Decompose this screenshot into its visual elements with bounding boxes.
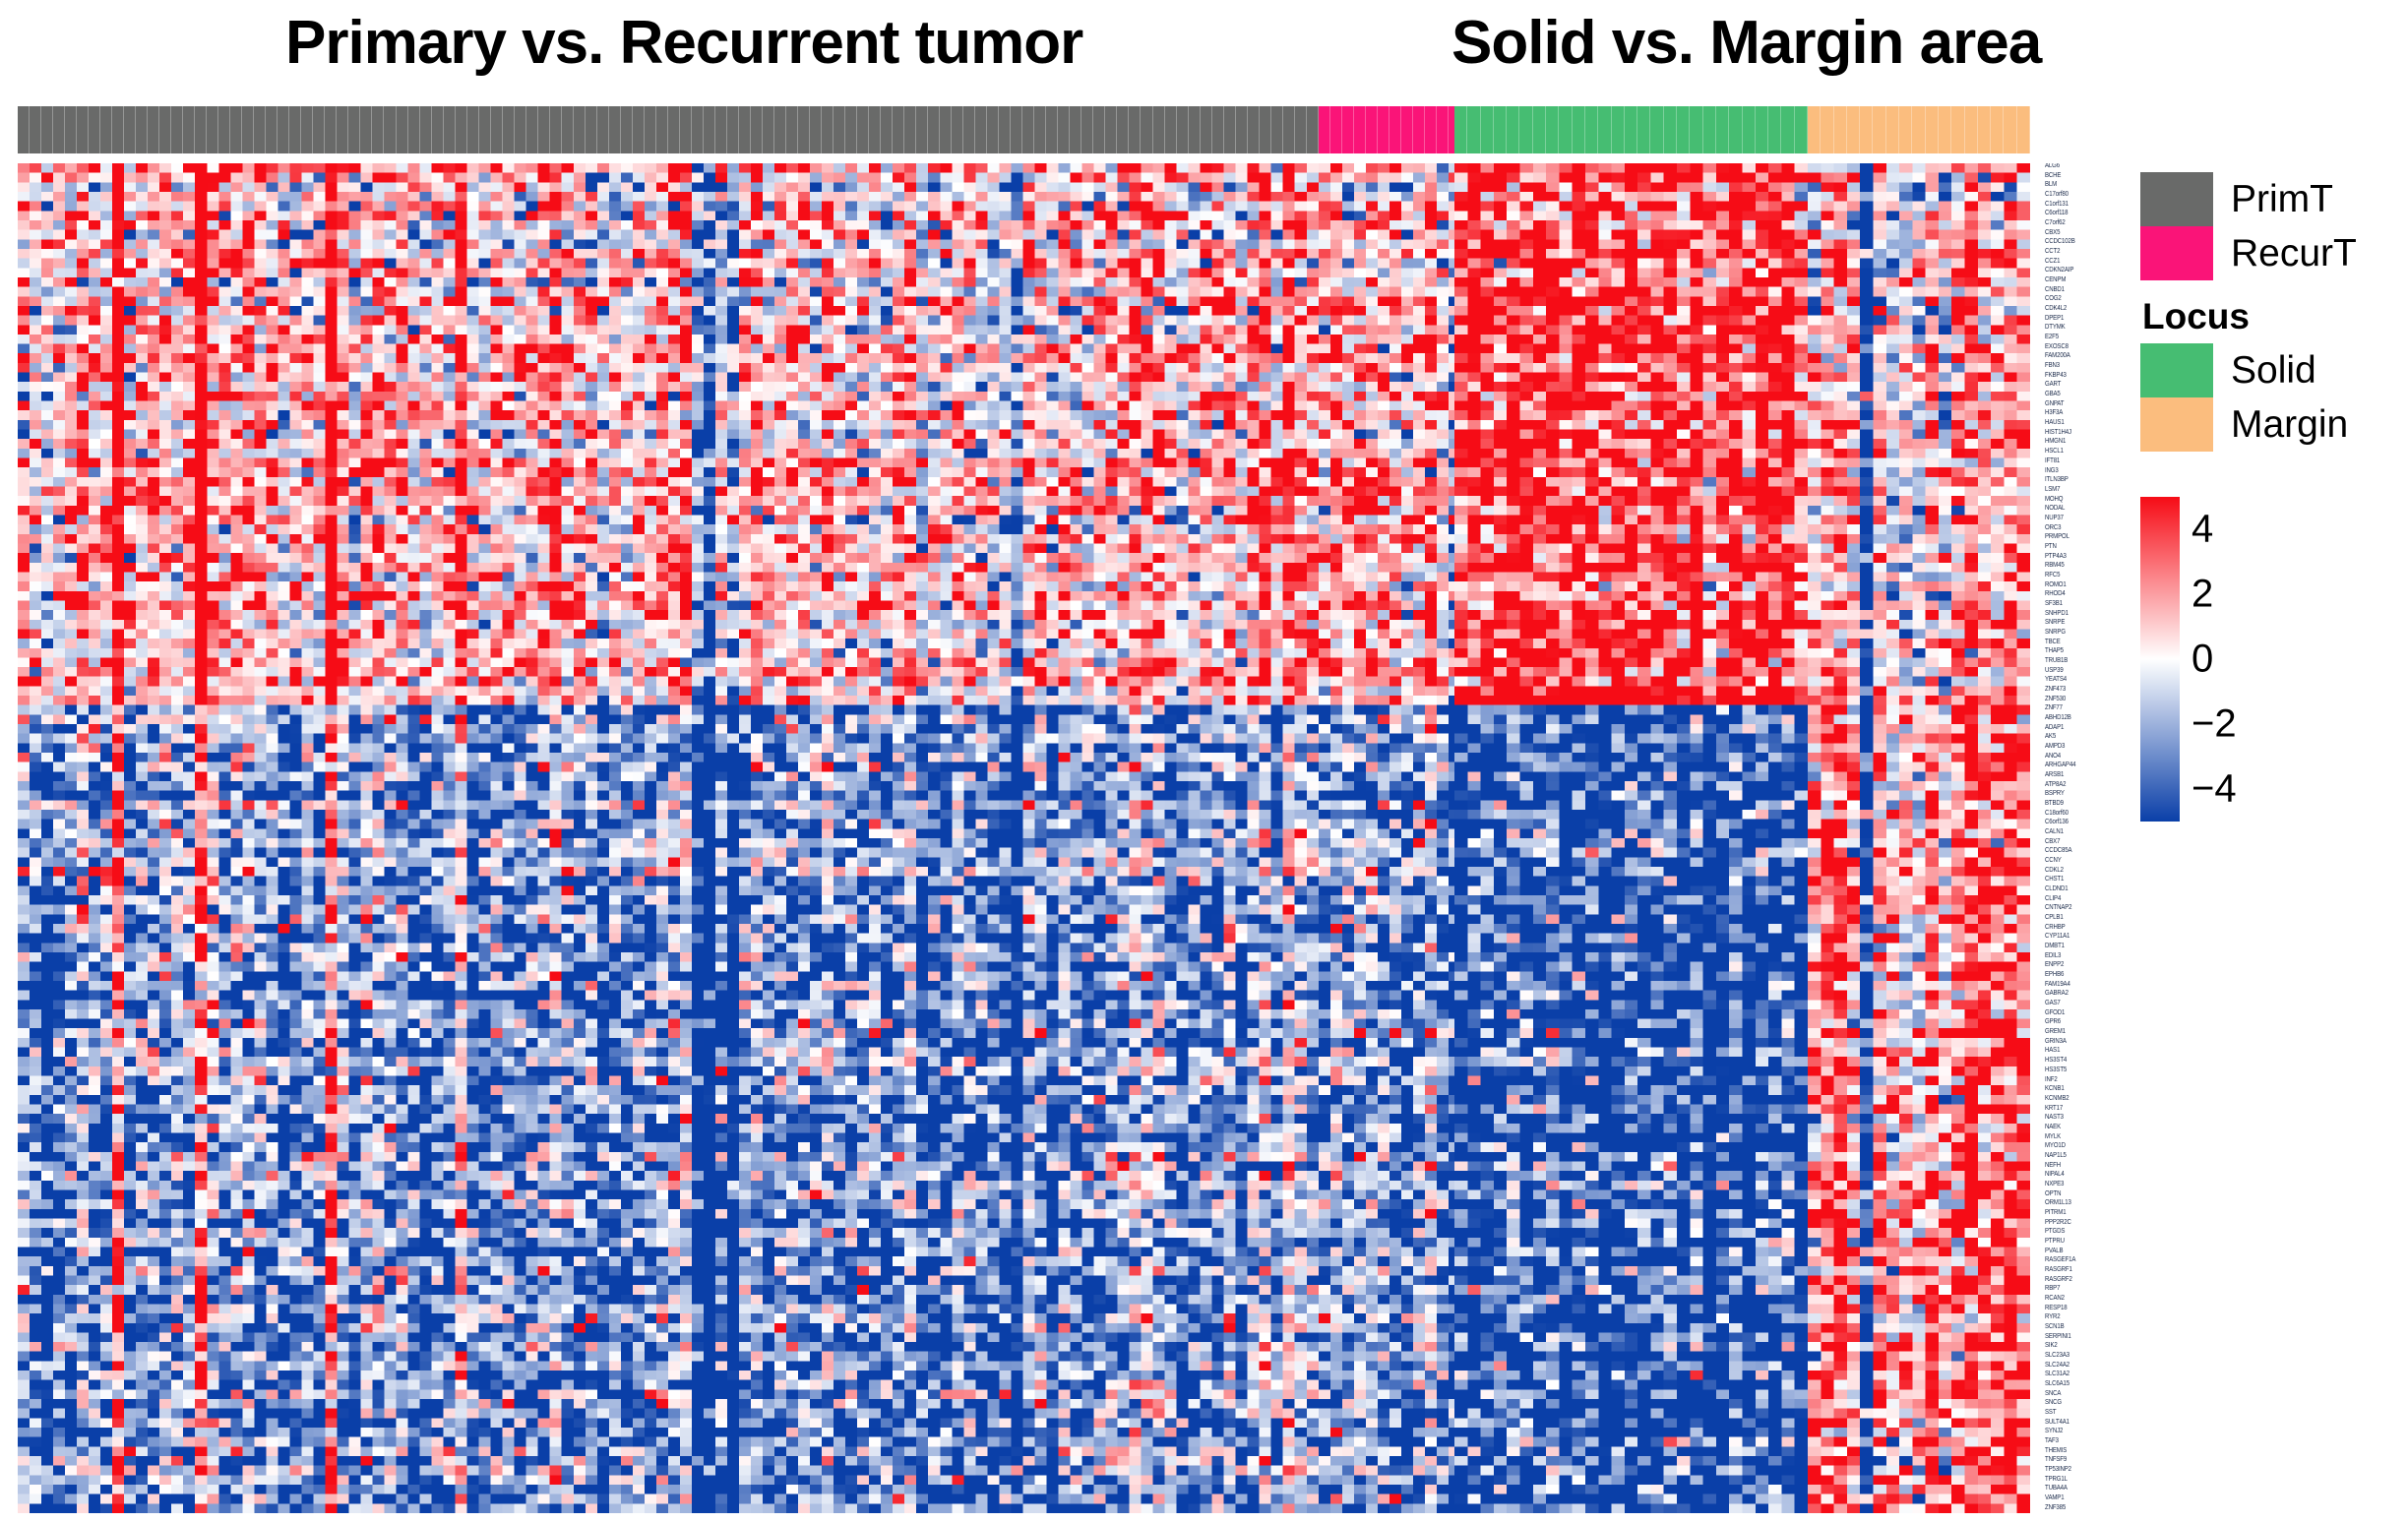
gene-label: NEFH <box>2045 1162 2122 1169</box>
gene-label: ALG6 <box>2045 163 2122 170</box>
annotation-segment-primt <box>18 106 1319 153</box>
gene-label: RASGRF1 <box>2045 1266 2122 1273</box>
gene-label: PVALB <box>2045 1248 2122 1254</box>
gene-label: HIST1H4J <box>2045 429 2122 436</box>
gene-label: DMBT1 <box>2045 944 2122 950</box>
annotation-cell <box>940 106 952 153</box>
gene-label: AMPD3 <box>2045 744 2122 751</box>
annotation-cell <box>1573 106 1585 153</box>
annotation-cell <box>1189 106 1201 153</box>
annotation-cell <box>786 106 798 153</box>
annotation-cell <box>609 106 621 153</box>
legend-item-margin[interactable]: Margin <box>2140 397 2408 452</box>
annotation-cell <box>727 106 739 153</box>
gene-label: C18orf60 <box>2045 810 2122 817</box>
gene-label: PRMPOL <box>2045 534 2122 541</box>
gene-label: GBA5 <box>2045 392 2122 398</box>
annotation-cell <box>1248 106 1260 153</box>
gene-label: SNCA <box>2045 1390 2122 1397</box>
gene-label: GRIN3A <box>2045 1038 2122 1045</box>
gene-label: SNRPE <box>2045 620 2122 627</box>
gene-label: CCDC102B <box>2045 239 2122 246</box>
colorbar-tick: 2 <box>2192 573 2213 617</box>
annotation-cell <box>278 106 289 153</box>
panel-title-left: Primary vs. Recurrent tumor <box>285 8 1082 78</box>
gene-label: TUBA4A <box>2045 1486 2122 1493</box>
annotation-cell <box>65 106 77 153</box>
gene-label: ORM1L13 <box>2045 1200 2122 1207</box>
gene-label: IFT81 <box>2045 457 2122 464</box>
legend-label: PrimT <box>2231 178 2333 221</box>
gene-label: FAM19A4 <box>2045 981 2122 988</box>
annotation-cell <box>1912 106 1925 153</box>
annotation-cell <box>1743 106 1756 153</box>
gene-label: NUP37 <box>2045 515 2122 521</box>
gene-label: CCT2 <box>2045 249 2122 256</box>
annotation-cell <box>1307 106 1319 153</box>
gene-label: PTP4A3 <box>2045 553 2122 560</box>
gene-label: SLC31A2 <box>2045 1371 2122 1378</box>
annotation-cell <box>266 106 278 153</box>
gene-label: FBN3 <box>2045 363 2122 370</box>
colorbar-tick: 0 <box>2192 638 2213 682</box>
annotation-cell <box>668 106 680 153</box>
gene-label: TPRG1L <box>2045 1476 2122 1483</box>
annotation-cell <box>2017 106 2030 153</box>
annotation-cell <box>325 106 337 153</box>
annotation-cell <box>1141 106 1152 153</box>
annotation-cell <box>1354 106 1366 153</box>
legend-colorbar: 420−2−4 <box>2140 497 2408 822</box>
gene-label: SULT4A1 <box>2045 1419 2122 1426</box>
annotation-cell <box>242 106 254 153</box>
gene-label: ROMO1 <box>2045 581 2122 588</box>
annotation-cell <box>810 106 822 153</box>
annotation-cell <box>1690 106 1702 153</box>
annotation-cell <box>1046 106 1058 153</box>
legend-item-solid[interactable]: Solid <box>2140 343 2408 397</box>
annotation-cell <box>1260 106 1271 153</box>
annotation-cell <box>254 106 266 153</box>
gene-label: HAS1 <box>2045 1048 2122 1055</box>
annotation-cell <box>1650 106 1663 153</box>
annotation-cell <box>751 106 763 153</box>
legend-item-recurt[interactable]: RecurT <box>2140 226 2408 280</box>
legend-item-primt[interactable]: PrimT <box>2140 172 2408 226</box>
gene-label: LSM7 <box>2045 486 2122 493</box>
annotation-cell <box>975 106 987 153</box>
gene-label: YEATS4 <box>2045 677 2122 684</box>
annotation-cell <box>100 106 112 153</box>
gene-label: PTPRU <box>2045 1238 2122 1245</box>
gene-label: CYP11A1 <box>2045 934 2122 941</box>
annotation-cell <box>491 106 503 153</box>
annotation-cell <box>1295 106 1307 153</box>
annotation-cell <box>1058 106 1070 153</box>
annotation-cell <box>621 106 633 153</box>
gene-label: GFOD1 <box>2045 1009 2122 1016</box>
annotation-cell <box>360 106 372 153</box>
annotation-cell <box>1389 106 1401 153</box>
gene-label: C1orf131 <box>2045 201 2122 208</box>
annotation-cell <box>195 106 207 153</box>
annotation-cell <box>1559 106 1572 153</box>
annotation-cell <box>845 106 857 153</box>
legend-label: RecurT <box>2231 232 2357 275</box>
annotation-cell <box>1664 106 1677 153</box>
gene-label: CBX5 <box>2045 229 2122 236</box>
annotation-cell <box>1625 106 1637 153</box>
gene-label: DTYMK <box>2045 325 2122 332</box>
annotation-cell <box>1494 106 1507 153</box>
annotation-cell <box>432 106 444 153</box>
gene-label: ZNF530 <box>2045 696 2122 702</box>
annotation-cell <box>739 106 751 153</box>
annotation-cell <box>1117 106 1129 153</box>
gene-label: CRHBP <box>2045 924 2122 931</box>
gene-label: CDKN2AIP <box>2045 268 2122 274</box>
gene-label: GART <box>2045 382 2122 389</box>
gene-label: INF2 <box>2045 1076 2122 1083</box>
annotation-cell <box>1022 106 1034 153</box>
gene-label: GPR6 <box>2045 1019 2122 1026</box>
colorbar-gradient <box>2140 497 2180 822</box>
annotation-cell <box>633 106 645 153</box>
annotation-cell <box>1585 106 1598 153</box>
annotation-cell <box>1978 106 1991 153</box>
annotation-cell <box>928 106 940 153</box>
gene-label: MYLK <box>2045 1133 2122 1140</box>
annotation-cell <box>1834 106 1847 153</box>
gene-label: PITRM1 <box>2045 1209 2122 1216</box>
gene-label: OPTN <box>2045 1190 2122 1197</box>
annotation-cell <box>1342 106 1354 153</box>
gene-label: RBM45 <box>2045 563 2122 570</box>
gene-label: TP53INP2 <box>2045 1467 2122 1474</box>
annotation-cell <box>348 106 360 153</box>
annotation-segment-solid <box>1454 106 1808 153</box>
annotation-cell <box>1201 106 1212 153</box>
gene-label: SLC23A3 <box>2045 1353 2122 1360</box>
annotation-cell <box>337 106 348 153</box>
annotation-cell <box>41 106 53 153</box>
annotation-cell <box>1939 106 1951 153</box>
annotation-cell <box>1926 106 1939 153</box>
legend-label: Solid <box>2231 349 2316 393</box>
gene-label: SNRPG <box>2045 629 2122 636</box>
annotation-cell <box>372 106 384 153</box>
gene-label: KRT17 <box>2045 1105 2122 1112</box>
annotation-cell <box>207 106 218 153</box>
annotation-cell <box>171 106 183 153</box>
gene-label: BSPRY <box>2045 791 2122 798</box>
annotation-cell <box>1899 106 1912 153</box>
legend-locus: Locus SolidMargin <box>2140 296 2408 452</box>
annotation-cell <box>1729 106 1742 153</box>
gene-label: COG2 <box>2045 296 2122 303</box>
heatmap-right <box>1454 163 2030 1513</box>
gene-label: HAUS1 <box>2045 420 2122 427</box>
gene-label: FKBP43 <box>2045 372 2122 379</box>
gene-label: EDIL3 <box>2045 952 2122 959</box>
annotation-cell <box>1271 106 1283 153</box>
gene-label: AK5 <box>2045 734 2122 741</box>
annotation-cell <box>999 106 1011 153</box>
gene-label: TAF3 <box>2045 1438 2122 1445</box>
gene-label: GAS7 <box>2045 1001 2122 1007</box>
gene-label: HMGN1 <box>2045 439 2122 446</box>
gene-label: ADAP1 <box>2045 724 2122 731</box>
legend-swatch <box>2140 172 2213 226</box>
annotation-cell <box>656 106 668 153</box>
annotation-cell <box>1873 106 1885 153</box>
annotation-cell <box>1533 106 1546 153</box>
annotation-cell <box>467 106 479 153</box>
annotation-cell <box>1886 106 1899 153</box>
annotation-cell <box>881 106 893 153</box>
annotation-cell <box>1105 106 1117 153</box>
annotation-cell <box>1519 106 1532 153</box>
annotation-cell <box>1847 106 1860 153</box>
gene-label: BLM <box>2045 182 2122 189</box>
gene-label: EXOSC8 <box>2045 343 2122 350</box>
gene-label: CCZ1 <box>2045 258 2122 265</box>
gene-label: THEMIS <box>2045 1447 2122 1454</box>
annotation-bar-left <box>18 106 1484 153</box>
annotation-cell <box>1319 106 1330 153</box>
annotation-cell <box>1129 106 1141 153</box>
gene-label: SNCG <box>2045 1400 2122 1407</box>
gene-label: GABRA2 <box>2045 991 2122 998</box>
gene-label: NODAL <box>2045 506 2122 513</box>
annotation-cell <box>1860 106 1873 153</box>
gene-label: TRUB1B <box>2045 657 2122 664</box>
gene-label: ZNF473 <box>2045 686 2122 693</box>
annotation-cell <box>1991 106 2004 153</box>
annotation-cell <box>1283 106 1295 153</box>
annotation-cell <box>112 106 124 153</box>
annotation-cell <box>715 106 727 153</box>
annotation-cell <box>1951 106 1964 153</box>
gene-label: CDK4L2 <box>2045 306 2122 313</box>
annotation-cell <box>1011 106 1022 153</box>
annotation-cell <box>1437 106 1449 153</box>
gene-label: RESP18 <box>2045 1305 2122 1311</box>
annotation-cell <box>479 106 491 153</box>
gene-label: TBCE <box>2045 639 2122 645</box>
gene-label: HSCL1 <box>2045 449 2122 456</box>
annotation-cell <box>538 106 550 153</box>
gene-label: SF3B1 <box>2045 600 2122 607</box>
annotation-cell <box>1413 106 1425 153</box>
annotation-cell <box>397 106 408 153</box>
annotation-cell <box>1034 106 1046 153</box>
legend-locus-title: Locus <box>2142 296 2408 337</box>
gene-label: ORC3 <box>2045 524 2122 531</box>
annotation-cell <box>1598 106 1611 153</box>
annotation-cell <box>384 106 396 153</box>
annotation-cell <box>550 106 562 153</box>
gene-label: CCDC85A <box>2045 848 2122 855</box>
annotation-cell <box>301 106 313 153</box>
colorbar-tick-labels: 420−2−4 <box>2192 497 2310 822</box>
annotation-cell <box>1467 106 1480 153</box>
annotation-cell <box>1781 106 1794 153</box>
annotation-cell <box>1366 106 1378 153</box>
gene-label: CALN1 <box>2045 829 2122 836</box>
annotation-cell <box>763 106 774 153</box>
annotation-cell <box>1177 106 1189 153</box>
gene-label: CBX7 <box>2045 838 2122 845</box>
gene-label: ZNF385 <box>2045 1504 2122 1511</box>
annotation-cell <box>420 106 432 153</box>
annotation-cell <box>822 106 834 153</box>
legend-swatch <box>2140 343 2213 397</box>
annotation-cell <box>1716 106 1729 153</box>
gene-label: ABHD12B <box>2045 715 2122 722</box>
heatmap-left <box>18 163 1484 1513</box>
annotation-cell <box>597 106 609 153</box>
gene-label: RASGEF1A <box>2045 1257 2122 1264</box>
gene-label: NIPAL4 <box>2045 1172 2122 1179</box>
gene-label: C7orf62 <box>2045 220 2122 227</box>
annotation-cell <box>1224 106 1236 153</box>
gene-label: ENPP2 <box>2045 962 2122 969</box>
annotation-cell <box>692 106 704 153</box>
annotation-cell <box>1070 106 1081 153</box>
annotation-cell <box>904 106 916 153</box>
annotation-cell <box>408 106 420 153</box>
annotation-cell <box>230 106 242 153</box>
annotation-cell <box>987 106 999 153</box>
annotation-cell <box>798 106 810 153</box>
annotation-cell <box>963 106 975 153</box>
gene-label: RCAN2 <box>2045 1295 2122 1302</box>
annotation-cell <box>1081 106 1093 153</box>
gene-label: KCNMB2 <box>2045 1095 2122 1102</box>
gene-label: CCNY <box>2045 858 2122 865</box>
annotation-cell <box>704 106 715 153</box>
annotation-cell <box>1546 106 1559 153</box>
gene-label: TNFSF9 <box>2045 1457 2122 1464</box>
annotation-cell <box>515 106 526 153</box>
annotation-segment-margin <box>1808 106 2030 153</box>
annotation-cell <box>456 106 467 153</box>
gene-label: KCNB1 <box>2045 1086 2122 1093</box>
annotation-cell <box>30 106 41 153</box>
annotation-cell <box>1808 106 1821 153</box>
gene-label: C17orf80 <box>2045 192 2122 199</box>
gene-label: SIK2 <box>2045 1343 2122 1350</box>
gene-label: PTN <box>2045 543 2122 550</box>
annotation-cell <box>586 106 597 153</box>
annotation-cell <box>916 106 928 153</box>
gene-label: BTBD9 <box>2045 801 2122 808</box>
annotation-cell <box>124 106 136 153</box>
gene-label: SERPINI1 <box>2045 1333 2122 1340</box>
annotation-cell <box>526 106 538 153</box>
annotation-cell <box>1756 106 1768 153</box>
gene-label: SNHPD1 <box>2045 610 2122 617</box>
annotation-cell <box>893 106 904 153</box>
gene-label: CNTNAP2 <box>2045 905 2122 912</box>
gene-label: H3F3A <box>2045 410 2122 417</box>
gene-label: NAEK <box>2045 1124 2122 1130</box>
gene-label: DPEP1 <box>2045 315 2122 322</box>
gene-label: GNPAT <box>2045 400 2122 407</box>
heatmap-figure: Primary vs. Recurrent tumor Solid vs. Ma… <box>0 0 2408 1523</box>
gene-label: CLDND1 <box>2045 886 2122 893</box>
annotation-cell <box>834 106 845 153</box>
annotation-cell <box>218 106 230 153</box>
annotation-cell <box>289 106 301 153</box>
gene-label: CENPM <box>2045 277 2122 284</box>
gene-label: ARSB1 <box>2045 772 2122 779</box>
annotation-cell <box>1425 106 1437 153</box>
annotation-cell <box>1212 106 1224 153</box>
annotation-cell <box>503 106 515 153</box>
gene-label: SYNJ2 <box>2045 1429 2122 1435</box>
gene-label: THAP5 <box>2045 648 2122 655</box>
annotation-cell <box>183 106 195 153</box>
annotation-cell <box>159 106 171 153</box>
annotation-cell <box>1612 106 1625 153</box>
annotation-cell <box>1965 106 1978 153</box>
gene-label: RHOD4 <box>2045 591 2122 598</box>
gene-label: SLC24A2 <box>2045 1362 2122 1369</box>
gene-label: PTGDS <box>2045 1229 2122 1236</box>
annotation-cell <box>1768 106 1781 153</box>
gene-label: CNBD1 <box>2045 286 2122 293</box>
annotation-cell <box>1481 106 1494 153</box>
gene-label: CDKL2 <box>2045 867 2122 874</box>
gene-label: ITLN3BP <box>2045 477 2122 484</box>
gene-label: E2F5 <box>2045 335 2122 341</box>
annotation-cell <box>1378 106 1389 153</box>
gene-label: GREM1 <box>2045 1029 2122 1036</box>
annotation-cell <box>574 106 586 153</box>
gene-label: USP39 <box>2045 667 2122 674</box>
annotation-cell <box>1677 106 1690 153</box>
annotation-bar-right <box>1454 106 2030 153</box>
gene-label-column: ALG6BCHEBLMC17orf80C1orf131C6orf118C7orf… <box>2045 163 2122 1513</box>
annotation-cell <box>18 106 30 153</box>
annotation-cell <box>1703 106 1716 153</box>
annotation-cell <box>313 106 325 153</box>
legend: PrimTRecurT Locus SolidMargin 420−2−4 <box>2140 172 2408 822</box>
annotation-cell <box>1821 106 1833 153</box>
gene-label: NAP1L5 <box>2045 1152 2122 1159</box>
gene-label: NXPE3 <box>2045 1181 2122 1188</box>
legend-label: Margin <box>2231 403 2348 447</box>
annotation-cell <box>1401 106 1413 153</box>
gene-label: VAMP1 <box>2045 1495 2122 1502</box>
annotation-cell <box>89 106 100 153</box>
gene-label: MOHQ <box>2045 496 2122 503</box>
colorbar-tick: −2 <box>2192 702 2237 747</box>
gene-label: HS3ST5 <box>2045 1066 2122 1073</box>
annotation-cell <box>53 106 65 153</box>
gene-label: C6orf136 <box>2045 820 2122 826</box>
annotation-cell <box>1330 106 1342 153</box>
gene-label: PPP2R2C <box>2045 1219 2122 1226</box>
annotation-cell <box>774 106 786 153</box>
colorbar-tick: −4 <box>2192 767 2237 812</box>
gene-label: ZNF77 <box>2045 705 2122 712</box>
annotation-cell <box>645 106 656 153</box>
annotation-cell <box>444 106 456 153</box>
gene-label: EPHB6 <box>2045 972 2122 979</box>
